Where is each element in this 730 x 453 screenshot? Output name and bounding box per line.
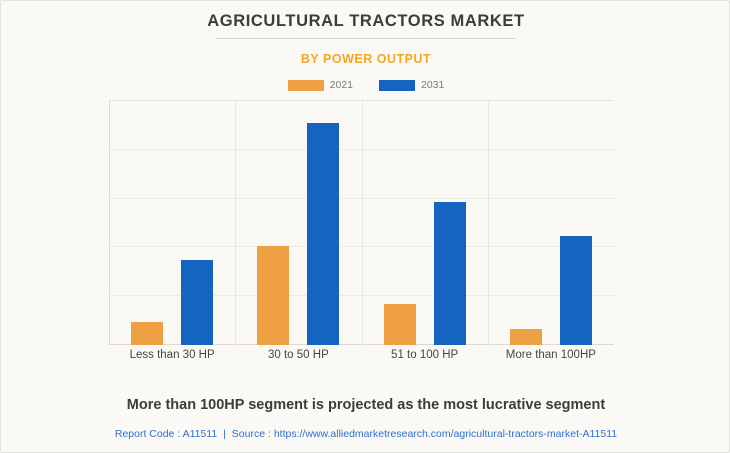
bar-2031[interactable] [560, 236, 592, 345]
x-axis-label: 51 to 100 HP [362, 349, 488, 361]
legend-item-2021[interactable]: 2021 [288, 79, 353, 91]
bar-group-51-to-100-hp [362, 100, 488, 345]
title-divider [216, 38, 516, 39]
infographic-card: AGRICULTURAL TRACTORS MARKET BY POWER OU… [0, 0, 730, 453]
bar-group-30-to-50-hp [235, 100, 361, 345]
chart-subtitle: BY POWER OUTPUT [1, 52, 730, 66]
x-axis-labels: Less than 30 HP 30 to 50 HP 51 to 100 HP… [109, 349, 614, 361]
chart-caption: More than 100HP segment is projected as … [1, 397, 730, 413]
legend-swatch-2031 [379, 80, 415, 91]
bar-group-more-than-100hp [488, 100, 614, 345]
chart-legend: 2021 2031 [1, 79, 730, 91]
legend-label-2021: 2021 [330, 79, 353, 91]
bar-2021[interactable] [257, 246, 289, 345]
bar-2021[interactable] [510, 329, 542, 345]
x-axis-label: Less than 30 HP [109, 349, 235, 361]
chart-plot-area [109, 100, 614, 345]
source-separator: | [220, 428, 229, 440]
bar-2021[interactable] [131, 322, 163, 345]
bar-groups [109, 100, 614, 345]
bar-2031[interactable] [434, 202, 466, 345]
source-link[interactable]: Source : https://www.alliedmarketresearc… [232, 428, 617, 440]
legend-swatch-2021 [288, 80, 324, 91]
bar-2031[interactable] [307, 123, 339, 345]
bar-group-less-than-30-hp [109, 100, 235, 345]
x-axis-label: More than 100HP [488, 349, 614, 361]
legend-item-2031[interactable]: 2031 [379, 79, 444, 91]
page-title: AGRICULTURAL TRACTORS MARKET [1, 12, 730, 31]
source-line: Report Code : A11511 | Source : https://… [1, 428, 730, 440]
bar-2031[interactable] [181, 260, 213, 345]
bar-2021[interactable] [384, 304, 416, 345]
report-code-label: Report Code : A11511 [115, 428, 217, 440]
x-axis-label: 30 to 50 HP [235, 349, 361, 361]
legend-label-2031: 2031 [421, 79, 444, 91]
